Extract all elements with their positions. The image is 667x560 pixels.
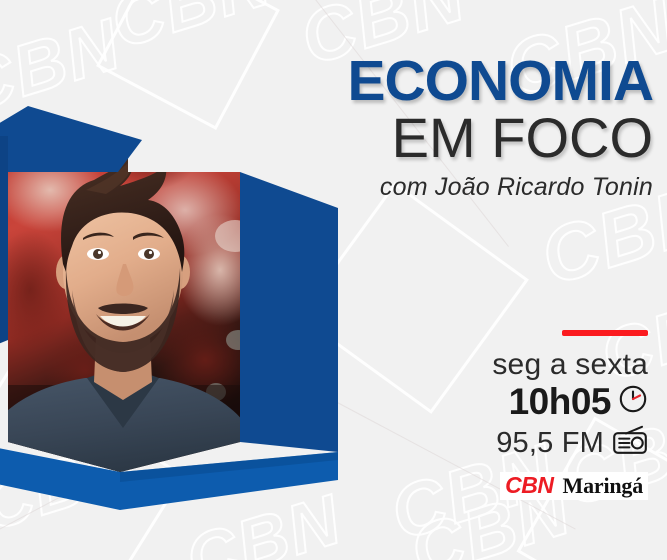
host-credit: com João Ricardo Tonin (0, 172, 653, 202)
station-logo: CBN Maringá (500, 472, 648, 500)
broadcast-days: seg a sexta (348, 349, 648, 381)
red-divider (562, 330, 648, 336)
cube-right-face (240, 172, 338, 452)
broadcast-frequency-row: 95,5 FM (348, 425, 648, 460)
broadcast-time: 10h05 (509, 383, 611, 422)
logo-city-name: Maringá (563, 475, 643, 497)
station-logo-wrap: CBN Maringá (348, 460, 648, 500)
headline-block: ECONOMIA EM FOCO com João Ricardo Tonin (0, 52, 653, 202)
page-subtitle: EM FOCO (0, 109, 653, 168)
logo-network-name: CBN (505, 474, 553, 497)
clock-icon (618, 384, 648, 419)
schedule-block: seg a sexta 10h05 95,5 FM (348, 330, 648, 500)
broadcast-time-row: 10h05 (348, 383, 648, 422)
broadcast-frequency: 95,5 FM (496, 428, 604, 458)
page-title: ECONOMIA (0, 52, 653, 111)
promo-banner: CBN CBN CBN CBN CBN CBN CBN CBN CBN CBN … (0, 0, 667, 560)
radio-icon (612, 425, 648, 460)
